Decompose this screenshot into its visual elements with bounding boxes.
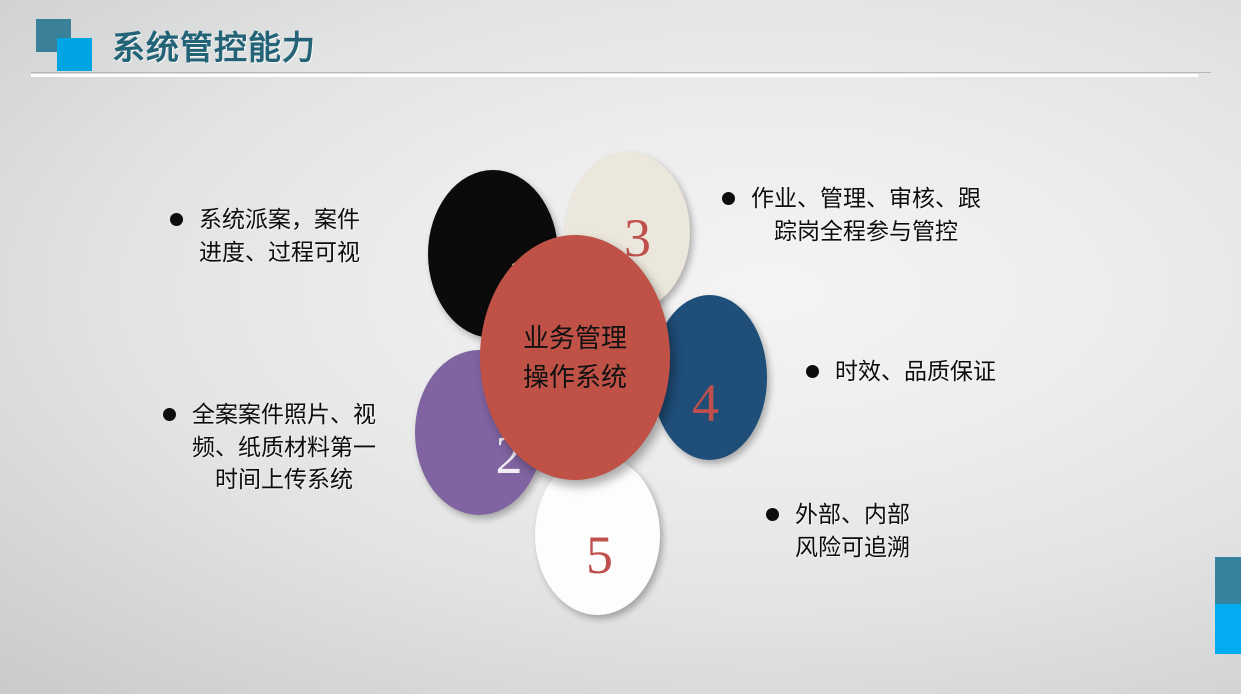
title-divider: [31, 72, 1199, 77]
edge-accent-teal: [1215, 557, 1241, 604]
divider-line-white: [31, 74, 1198, 77]
slide-canvas: 系统管控能力 3 1 4 5 2 业务管理 操作系统 系统派案，案件 进度、过程…: [0, 0, 1241, 694]
petal-4[interactable]: 4: [652, 295, 767, 460]
petal-5[interactable]: 5: [535, 455, 660, 615]
petal-center-label: 业务管理 操作系统: [523, 319, 627, 397]
divider-line-grey: [31, 72, 1211, 73]
callout-left-top: 系统派案，案件 进度、过程可视: [170, 203, 415, 268]
callout-left-top-text: 系统派案，案件 进度、过程可视: [199, 203, 360, 268]
callout-right-top: 作业、管理、审核、跟 踪岗全程参与管控: [722, 182, 1052, 247]
petal-5-number: 5: [586, 528, 613, 582]
callout-right-bottom: 外部、内部 风险可追溯: [766, 498, 981, 563]
petal-4-number: 4: [692, 376, 719, 430]
callout-right-middle-text: 时效、品质保证: [835, 355, 996, 388]
petal-center[interactable]: 业务管理 操作系统: [480, 235, 670, 480]
callout-right-bottom-text: 外部、内部 风险可追溯: [795, 498, 910, 563]
bullet-dot-icon: [722, 192, 735, 205]
page-title: 系统管控能力: [112, 21, 316, 69]
callout-right-top-text: 作业、管理、审核、跟 踪岗全程参与管控: [751, 182, 981, 247]
edge-accent-cyan: [1215, 604, 1241, 654]
callout-left-bottom: 全案案件照片、视 频、纸质材料第一 时间上传系统: [163, 398, 421, 496]
bullet-dot-icon: [163, 408, 176, 421]
callout-right-middle: 时效、品质保证: [806, 355, 1041, 388]
bullet-dot-icon: [170, 213, 183, 226]
callout-left-bottom-text: 全案案件照片、视 频、纸质材料第一 时间上传系统: [192, 398, 376, 496]
bullet-dot-icon: [806, 365, 819, 378]
header-square-bright-icon: [57, 38, 92, 71]
bullet-dot-icon: [766, 508, 779, 521]
